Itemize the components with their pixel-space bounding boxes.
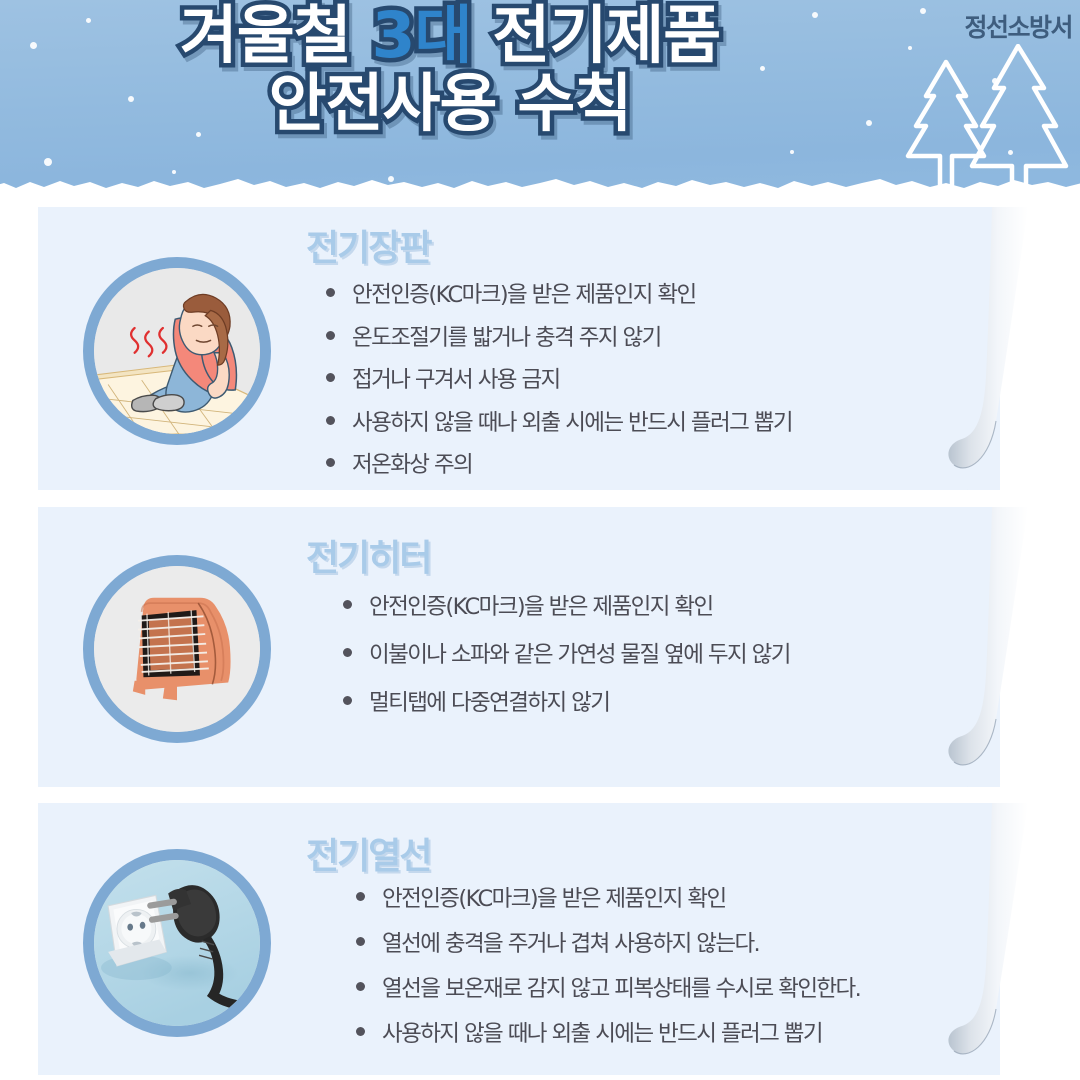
bullet-text: 멀티탭에 다중연결하지 않기 xyxy=(369,685,609,717)
list-item: 안전인증(KC마크)을 받은 제품인지 확인 xyxy=(326,277,792,309)
bullet-text: 접거나 구겨서 사용 금지 xyxy=(352,362,560,394)
list-item: 사용하지 않을 때나 외출 시에는 반드시 플러그 뽑기 xyxy=(356,1016,860,1048)
bullet-list-3: 안전인증(KC마크)을 받은 제품인지 확인 열선에 충격을 주거나 겹쳐 사용… xyxy=(356,881,860,1061)
title-line-2: 안전사용 수칙 xyxy=(0,73,900,135)
pine-trees-icon xyxy=(886,44,1076,193)
bullet-dot-icon xyxy=(356,1027,365,1036)
bullet-dot-icon xyxy=(343,600,352,609)
section-heading-2: 전기히터 xyxy=(306,529,430,581)
page-title: 겨울철 3대 전기제품 안전사용 수칙 xyxy=(0,5,900,134)
list-item: 사용하지 않을 때나 외출 시에는 반드시 플러그 뽑기 xyxy=(326,405,792,437)
section-heading-3: 전기열선 xyxy=(306,827,430,879)
list-item: 접거나 구겨서 사용 금지 xyxy=(326,362,792,394)
bullet-text: 안전인증(KC마크)을 받은 제품인지 확인 xyxy=(382,881,726,913)
section-heading-1: 전기장판 xyxy=(306,219,430,271)
title-line-1: 겨울철 3대 전기제품 xyxy=(0,5,900,67)
bullet-dot-icon xyxy=(343,648,352,657)
title-highlight-3dae: 3대 xyxy=(372,0,472,72)
bullet-text: 사용하지 않을 때나 외출 시에는 반드시 플러그 뽑기 xyxy=(352,405,792,437)
bullet-dot-icon xyxy=(356,982,365,991)
bullet-list-2: 안전인증(KC마크)을 받은 제품인지 확인 이불이나 소파와 같은 가연성 물… xyxy=(343,589,790,733)
snowflake xyxy=(920,8,926,14)
list-item: 온도조절기를 밟거나 충격 주지 않기 xyxy=(326,320,792,352)
header-banner: 겨울철 3대 전기제품 안전사용 수칙 정선소방서 xyxy=(0,0,1080,193)
illustration-plug-and-socket xyxy=(83,849,271,1037)
illustration-electric-blanket xyxy=(83,257,271,445)
bullet-dot-icon xyxy=(326,288,335,297)
list-item: 열선에 충격을 주거나 겹쳐 사용하지 않는다. xyxy=(356,926,860,958)
list-item: 안전인증(KC마크)을 받은 제품인지 확인 xyxy=(356,881,860,913)
organization-name: 정선소방서 xyxy=(964,8,1072,44)
bullet-text: 안전인증(KC마크)을 받은 제품인지 확인 xyxy=(352,277,696,309)
list-item: 안전인증(KC마크)을 받은 제품인지 확인 xyxy=(343,589,790,621)
snowflake xyxy=(790,150,794,154)
bullet-text: 안전인증(KC마크)을 받은 제품인지 확인 xyxy=(369,589,713,621)
bullet-text: 이불이나 소파와 같은 가연성 물질 옆에 두지 않기 xyxy=(369,637,790,669)
bullet-dot-icon xyxy=(326,331,335,340)
section-card-electric-blanket: 전기장판 안전인증(KC마크)을 받은 제품인지 확인 온도조절기를 밟거나 충… xyxy=(38,207,1000,490)
title-part-pre: 겨울철 xyxy=(180,0,372,72)
list-item: 저온화상 주의 xyxy=(326,447,792,479)
bullet-dot-icon xyxy=(356,892,365,901)
bullet-dot-icon xyxy=(343,696,352,705)
title-part-post: 전기제품 xyxy=(471,0,720,72)
bullet-dot-icon xyxy=(326,458,335,467)
bullet-text: 열선을 보온재로 감지 않고 피복상태를 수시로 확인한다. xyxy=(382,971,860,1003)
snow-edge-decoration xyxy=(0,173,1080,193)
list-item: 멀티탭에 다중연결하지 않기 xyxy=(343,685,790,717)
snowflake xyxy=(44,158,52,166)
section-card-electric-heating-wire: 전기열선 안전인증(KC마크)을 받은 제품인지 확인 열선에 충격을 주거나 … xyxy=(38,803,1000,1075)
bullet-text: 사용하지 않을 때나 외출 시에는 반드시 플러그 뽑기 xyxy=(382,1016,822,1048)
bullet-text: 온도조절기를 밟거나 충격 주지 않기 xyxy=(352,320,661,352)
list-item: 이불이나 소파와 같은 가연성 물질 옆에 두지 않기 xyxy=(343,637,790,669)
list-item: 열선을 보온재로 감지 않고 피복상태를 수시로 확인한다. xyxy=(356,971,860,1003)
bullet-dot-icon xyxy=(326,373,335,382)
bullet-list-1: 안전인증(KC마크)을 받은 제품인지 확인 온도조절기를 밟거나 충격 주지 … xyxy=(326,277,792,490)
bullet-dot-icon xyxy=(356,937,365,946)
bullet-text: 저온화상 주의 xyxy=(352,447,472,479)
bullet-text: 열선에 충격을 주거나 겹쳐 사용하지 않는다. xyxy=(382,926,759,958)
bullet-dot-icon xyxy=(326,416,335,425)
section-card-electric-heater: 전기히터 안전인증(KC마크)을 받은 제품인지 확인 이불이나 소파와 같은 … xyxy=(38,507,1000,787)
illustration-electric-heater xyxy=(83,555,271,743)
